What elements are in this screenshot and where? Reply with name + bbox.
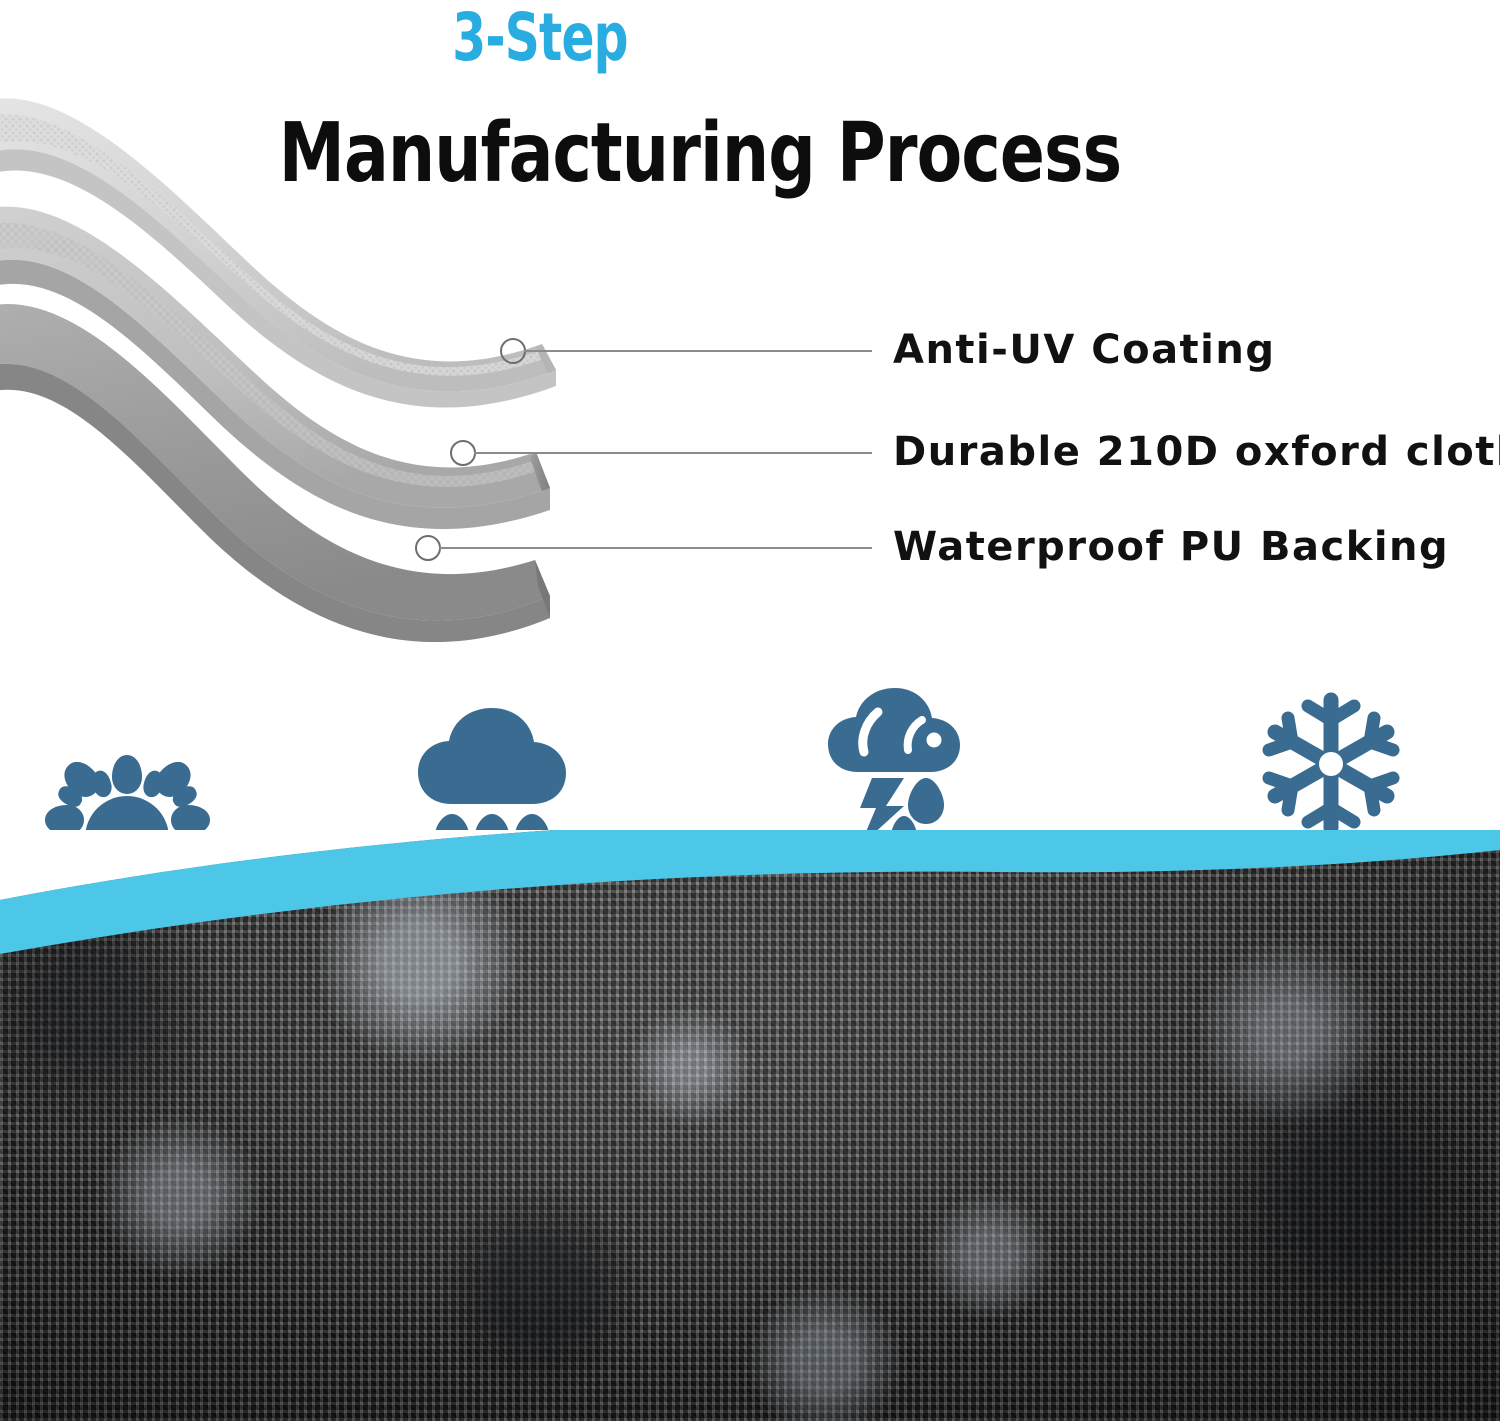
callout-label-oxford: Durable 210D oxford cloth bbox=[893, 428, 1500, 476]
callout-line-oxford bbox=[474, 452, 872, 454]
callout-dot-pu-backing bbox=[415, 535, 441, 561]
infographic-canvas: 3-Step Manufacturing Process bbox=[0, 0, 1500, 1421]
callout-label-anti-uv: Anti-UV Coating bbox=[893, 326, 1276, 374]
cyan-wave-divider bbox=[0, 830, 1500, 976]
callout-dot-oxford bbox=[450, 440, 476, 466]
thunderstorm-icon bbox=[826, 688, 966, 846]
fabric-photo-section bbox=[0, 830, 1500, 1421]
callouts-group: Anti-UV Coating Durable 210D oxford clot… bbox=[0, 0, 1500, 720]
callout-dot-anti-uv bbox=[500, 338, 526, 364]
callout-label-pu-backing: Waterproof PU Backing bbox=[893, 523, 1449, 571]
rain-cloud-icon bbox=[416, 708, 568, 846]
callout-line-anti-uv bbox=[524, 350, 872, 352]
snowflake-icon bbox=[1258, 688, 1404, 840]
callout-line-pu-backing bbox=[439, 547, 872, 549]
